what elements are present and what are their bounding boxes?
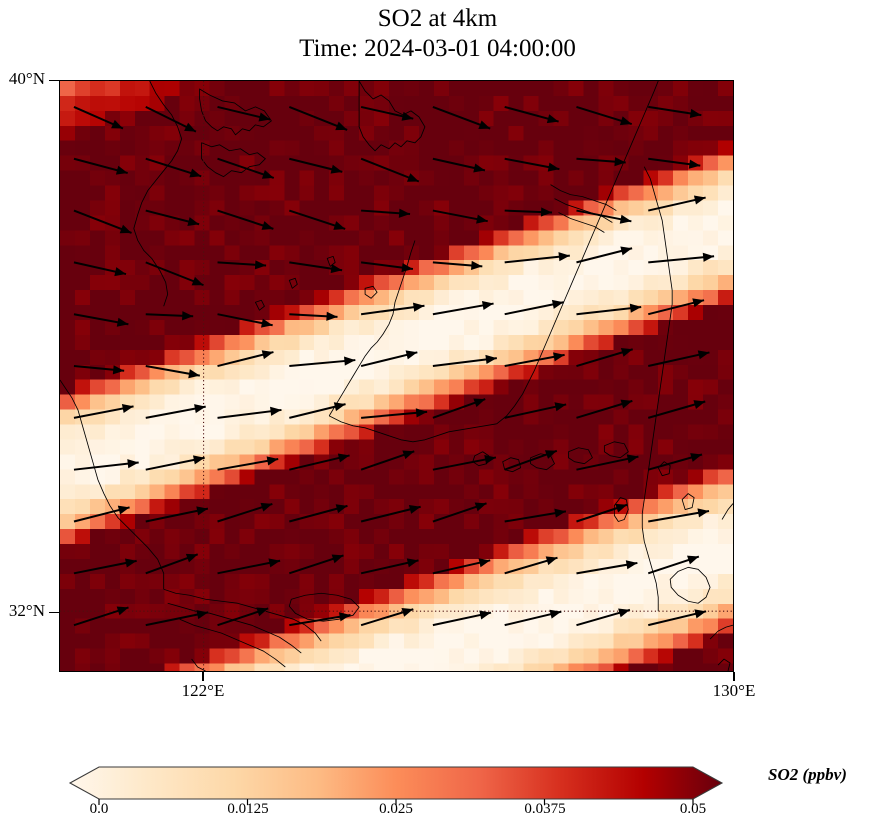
colorbar-gradient <box>0 755 875 836</box>
ytick-label-40n: 40°N <box>0 69 45 89</box>
xtick-mark-130e <box>733 672 735 681</box>
xtick-label-122e: 122°E <box>143 681 263 701</box>
colorbar-tick-1: 0.0125 <box>188 801 308 818</box>
ytick-label-32n: 32°N <box>0 601 45 621</box>
ytick-mark-40n <box>49 80 59 82</box>
colorbar-tick-0: 0.0 <box>39 801 159 818</box>
so2-heatmap-raster <box>60 81 733 671</box>
xtick-label-130e: 130°E <box>674 681 794 701</box>
xtick-mark-122e <box>202 672 204 681</box>
figure-title: SO2 at 4km Time: 2024-03-01 04:00:00 <box>0 4 875 63</box>
colorbar-tick-4: 0.05 <box>633 801 753 818</box>
colorbar-title-label: SO2 (ppbv) <box>768 765 847 785</box>
title-line-variable: SO2 at 4km <box>0 4 875 34</box>
title-line-time: Time: 2024-03-01 04:00:00 <box>0 34 875 64</box>
map-plot-area[interactable] <box>59 80 734 672</box>
colorbar[interactable]: SO2 (ppbv) 0.0 0.0125 0.025 0.0375 0.05 <box>0 755 875 836</box>
colorbar-tick-2: 0.025 <box>336 801 456 818</box>
colorbar-tick-3: 0.0375 <box>485 801 605 818</box>
ytick-mark-32n <box>49 612 59 614</box>
